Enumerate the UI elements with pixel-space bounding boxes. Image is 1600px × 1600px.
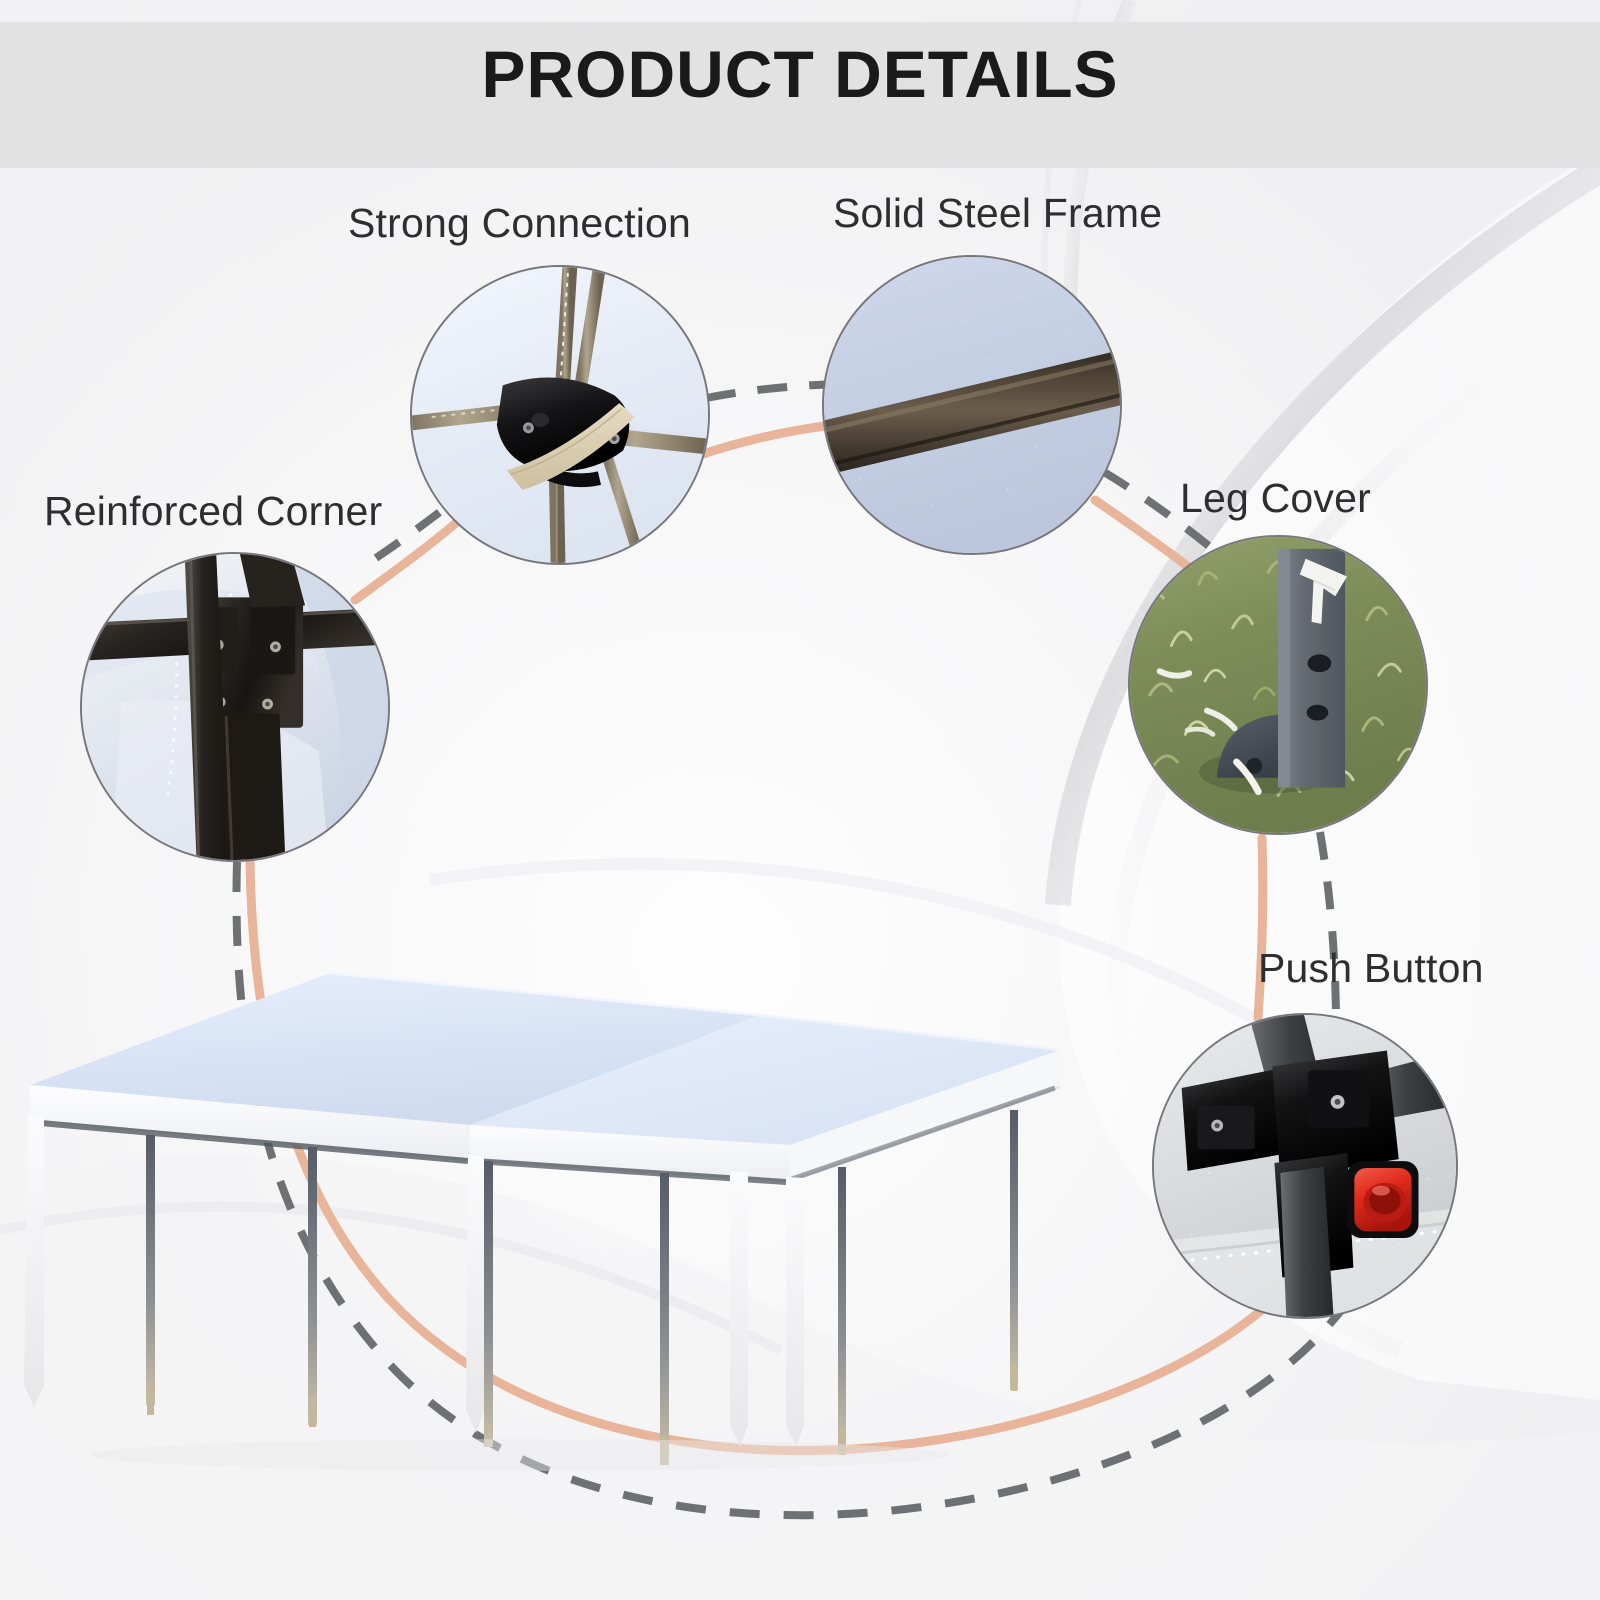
- solid-steel-frame-art: [824, 257, 1120, 553]
- leg-cover-art: [1130, 537, 1426, 833]
- strong-connection-art: [412, 267, 708, 563]
- push-button-art: [1154, 1015, 1456, 1317]
- page-title: PRODUCT DETAILS: [0, 36, 1600, 112]
- feature-label-leg-cover: Leg Cover: [1180, 475, 1371, 522]
- canopy-leg: [1010, 1110, 1018, 1390]
- canopy-leg: [308, 1147, 317, 1425]
- feature-label-reinforced-corner: Reinforced Corner: [44, 488, 382, 535]
- reinforced-corner-art: [82, 554, 388, 860]
- canopy-leg: [838, 1167, 846, 1455]
- feature-label-solid-steel-frame: Solid Steel Frame: [833, 190, 1162, 237]
- detail-circle-leg-cover[interactable]: [1128, 535, 1428, 835]
- detail-circle-solid-steel-frame[interactable]: [822, 255, 1122, 555]
- feature-label-strong-connection: Strong Connection: [348, 200, 691, 247]
- detail-circle-strong-connection[interactable]: [410, 265, 710, 565]
- detail-circle-push-button[interactable]: [1152, 1013, 1458, 1319]
- product-details-infographic: PRODUCT DETAILS: [0, 0, 1600, 1600]
- feature-label-push-button: Push Button: [1258, 945, 1484, 992]
- canopy-leg: [484, 1161, 493, 1447]
- product-photo-canopy: [0, 955, 1180, 1475]
- canopy-leg: [146, 1135, 155, 1405]
- canopy-leg: [660, 1173, 669, 1465]
- detail-circle-reinforced-corner[interactable]: [80, 552, 390, 862]
